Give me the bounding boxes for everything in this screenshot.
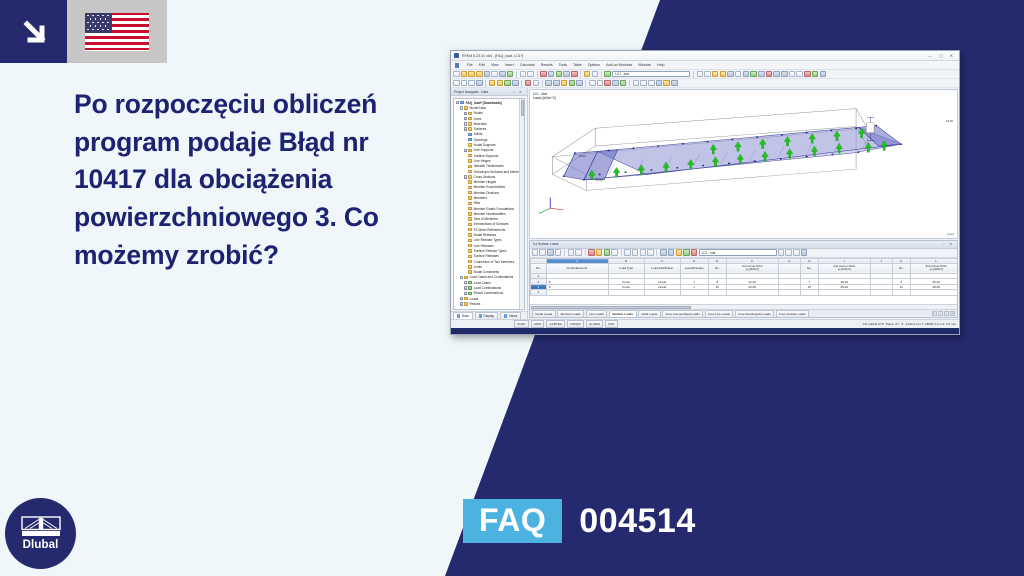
- main-toolbar[interactable]: LC1 - stat: [451, 70, 959, 79]
- tab-first-icon[interactable]: |<: [932, 311, 937, 316]
- navigator-tabs[interactable]: DataDisplayViews: [451, 311, 527, 319]
- folder-icon: [468, 265, 472, 268]
- status-toggle-cartes[interactable]: CARTES: [546, 320, 565, 327]
- zoom-window-icon[interactable]: [743, 71, 750, 78]
- window-controls[interactable]: — ◻ ✕: [928, 53, 956, 58]
- table-cell[interactable]: [726, 290, 778, 295]
- load-tab-free-circular-loads[interactable]: Free Circular Loads: [776, 310, 809, 318]
- tree-spacer-icon: [464, 196, 467, 199]
- layers-icon[interactable]: [663, 80, 670, 87]
- menu-item-file[interactable]: File: [467, 63, 473, 67]
- column-header-cell: On Surfaces No.: [546, 263, 608, 274]
- column-header-cell: Load Direction: [680, 263, 708, 274]
- navigator-close-icon[interactable]: ▫ ✕: [513, 90, 524, 94]
- table-cell[interactable]: [910, 290, 957, 295]
- table-new-icon[interactable]: [532, 249, 539, 256]
- table-color-icon[interactable]: [676, 249, 683, 256]
- table-nav-prev-icon[interactable]: [785, 249, 792, 256]
- folder-icon: [468, 143, 472, 146]
- table-cell[interactable]: [608, 290, 644, 295]
- folder-icon: [468, 175, 472, 178]
- toolbar-separator: [601, 71, 602, 78]
- model-viewport[interactable]: LC1 : stat Loads [kN/m^2]: [529, 89, 958, 239]
- status-coordinate-system: CS: Global XYZ: [863, 322, 884, 326]
- navigator-scrollbar[interactable]: [519, 99, 524, 309]
- tree-spacer-icon: [464, 186, 467, 189]
- menu-item-calculate[interactable]: Calculate: [520, 63, 535, 67]
- folder-icon: [468, 117, 472, 120]
- line-load-icon[interactable]: [561, 80, 568, 87]
- table-next-icon[interactable]: [640, 249, 647, 256]
- tree-spacer-icon: [464, 191, 467, 194]
- expand-icon[interactable]: +: [464, 127, 467, 130]
- folder-icon: [468, 165, 472, 168]
- load-tab-member-loads[interactable]: Member Loads: [557, 310, 584, 318]
- table-undo-icon[interactable]: [611, 249, 618, 256]
- folder-icon: [468, 122, 472, 125]
- column-header-cell: Load Type: [608, 263, 644, 274]
- clipping-icon[interactable]: [648, 80, 655, 87]
- menu-item-results[interactable]: Results: [541, 63, 553, 67]
- measure-icon[interactable]: [789, 71, 796, 78]
- toolbar-separator: [516, 71, 517, 78]
- folder-icon: [468, 159, 472, 162]
- folder-icon: [468, 186, 472, 189]
- work-area: LC1 : stat Loads [kN/m^2]: [528, 88, 959, 319]
- folder-icon: [468, 133, 472, 136]
- tree-spacer-icon: [464, 260, 467, 263]
- table-nav-next-icon[interactable]: [793, 249, 800, 256]
- column-header-cell: No.: [530, 263, 546, 274]
- menu-item-window[interactable]: Window: [638, 63, 651, 67]
- folder-icon: [468, 281, 472, 284]
- navigator-item-label: Load Combinations: [474, 286, 501, 290]
- table-panel-titlebar: 3.4 Surface Loads ▫ ✕: [530, 241, 957, 249]
- table-cell[interactable]: [644, 290, 680, 295]
- tree-spacer-icon: [464, 165, 467, 168]
- load-type-tabs[interactable]: Nodal LoadsMember LoadsLine LoadsSurface…: [530, 309, 957, 317]
- table-close-table-icon[interactable]: [801, 249, 808, 256]
- structural-model-3d[interactable]: [530, 98, 957, 218]
- navigator-item-label: FAQ_load* [Downloads]: [466, 101, 502, 105]
- render-icon[interactable]: [563, 71, 570, 78]
- tree-spacer-icon: [464, 249, 467, 252]
- surface-tool-icon[interactable]: [489, 80, 496, 87]
- table-cell[interactable]: [778, 290, 800, 295]
- tree-spacer-icon: [464, 239, 467, 242]
- toolbar-separator: [693, 71, 694, 78]
- collapse-icon[interactable]: -: [460, 106, 463, 109]
- status-toggle-snap[interactable]: SNAP: [514, 320, 529, 327]
- folder-icon: [464, 106, 468, 109]
- minimize-button[interactable]: —: [928, 53, 932, 58]
- collapse-icon[interactable]: -: [456, 101, 459, 104]
- folder-icon: [464, 297, 468, 300]
- mesh-refine-icon[interactable]: [597, 80, 604, 87]
- navigator-tab-views[interactable]: Views: [500, 312, 521, 319]
- surface-loads-table[interactable]: ABCDEFGHIJKL No.On Surfaces No.Load Type…: [530, 258, 957, 296]
- print-icon[interactable]: [491, 71, 498, 78]
- prev-lc-icon[interactable]: [697, 71, 704, 78]
- loadcase-icon[interactable]: [604, 71, 611, 78]
- status-toggle-grid[interactable]: GRID: [531, 320, 545, 327]
- calculate-icon[interactable]: [548, 71, 555, 78]
- navigator-item-label: Member Eccentricities: [474, 185, 505, 189]
- viewport-unit-label: [mm]: [947, 232, 954, 236]
- delete-icon[interactable]: [804, 71, 811, 78]
- column-header-cell: No.: [892, 263, 910, 274]
- tab-icon: [504, 314, 507, 317]
- viewport-dimension-right: 22.00: [946, 119, 953, 123]
- toolbar-separator: [656, 249, 657, 256]
- toolbar-separator: [564, 249, 565, 256]
- help-icon[interactable]: [820, 71, 827, 78]
- table-filter-icon[interactable]: [547, 249, 554, 256]
- table-copy-icon[interactable]: [568, 249, 575, 256]
- free-load-icon[interactable]: [576, 80, 583, 87]
- menu-item-view[interactable]: View: [491, 63, 499, 67]
- arc-tool-icon[interactable]: [468, 80, 475, 87]
- settings-icon[interactable]: [812, 71, 819, 78]
- tree-spacer-icon: [464, 180, 467, 183]
- section-icon[interactable]: [796, 71, 803, 78]
- table-panel-title: 3.4 Surface Loads: [533, 242, 559, 246]
- tab-last-icon[interactable]: >|: [950, 311, 955, 316]
- navigator-tab-label: Views: [509, 314, 517, 318]
- tab-icon: [457, 314, 460, 317]
- window-title: RFEM 5.23.01 x64 - [FAQ_load, LC1*]: [462, 54, 523, 58]
- navigator-item-label: Nodal Supports: [474, 143, 496, 147]
- expand-icon[interactable]: +: [464, 112, 467, 115]
- navigator-item-label: Model Data: [470, 106, 486, 110]
- tree-spacer-icon: [464, 228, 467, 231]
- menu-item-insert[interactable]: Insert: [505, 63, 514, 67]
- table-cell[interactable]: [870, 290, 892, 295]
- workplane-icon[interactable]: [620, 80, 627, 87]
- show-numbering-icon[interactable]: [720, 71, 727, 78]
- page-title: Po rozpoczęciu obliczeń program podaje B…: [74, 86, 434, 274]
- column-header-cell: [778, 263, 800, 274]
- status-toggle-osnap[interactable]: OSNAP: [567, 320, 584, 327]
- dimension-icon[interactable]: [633, 80, 640, 87]
- node-tool-icon[interactable]: [453, 80, 460, 87]
- table-view-icon[interactable]: [683, 249, 690, 256]
- view-xz-icon[interactable]: [781, 71, 788, 78]
- folder-icon: [468, 191, 472, 194]
- navigator-tab-label: Display: [484, 314, 494, 318]
- navigator-item-label: Intersections of Surfaces: [474, 222, 509, 226]
- tree-spacer-icon: [464, 223, 467, 226]
- table-print-icon[interactable]: [668, 249, 675, 256]
- arrow-down-right-icon: [0, 0, 67, 63]
- table-edit-icon[interactable]: [539, 249, 546, 256]
- navigator-item-label: Variable Thicknesses: [474, 164, 504, 168]
- navigator-item-label: Loads: [470, 297, 479, 301]
- navigator-item-label: Load Cases: [474, 281, 491, 285]
- status-toggle-glines[interactable]: GLINES: [586, 320, 603, 327]
- folder-icon: [468, 112, 472, 115]
- navigator-item-label: Nodal Constraints: [474, 270, 499, 274]
- table-cell[interactable]: [708, 290, 726, 295]
- expand-icon[interactable]: +: [464, 286, 467, 289]
- redo-icon[interactable]: [527, 71, 534, 78]
- expand-icon[interactable]: +: [460, 297, 463, 300]
- tree-spacer-icon: [464, 133, 467, 136]
- tree-spacer-icon: [464, 244, 467, 247]
- table-cell[interactable]: [892, 290, 910, 295]
- expand-icon[interactable]: +: [464, 117, 467, 120]
- fe-mesh-icon[interactable]: [604, 80, 611, 87]
- menu-item-table[interactable]: Table: [573, 63, 582, 67]
- column-header-cell: [870, 263, 892, 274]
- tree-spacer-icon: [464, 170, 467, 173]
- edit-icon[interactable]: [540, 71, 547, 78]
- load-tab-line-loads[interactable]: Line Loads: [586, 310, 608, 318]
- folder-icon: [464, 302, 468, 305]
- folder-icon: [468, 260, 472, 263]
- toolbar-separator: [521, 80, 522, 87]
- results-icon[interactable]: [571, 71, 578, 78]
- expand-icon[interactable]: +: [464, 149, 467, 152]
- tab-icon: [479, 314, 482, 317]
- tree-spacer-icon: [464, 143, 467, 146]
- surface-loads-grid[interactable]: ABCDEFGHIJKL No.On Surfaces No.Load Type…: [530, 258, 957, 305]
- menu-item-addon-modules[interactable]: Add-on Modules: [606, 63, 632, 67]
- table-cell[interactable]: [546, 290, 608, 295]
- navigator-item-label: Sets of Members: [474, 217, 498, 221]
- window-titlebar: RFEM 5.23.01 x64 - [FAQ_load, LC1*] — ◻ …: [451, 51, 959, 61]
- viewport-dimension-left-upper: 22.00: [579, 154, 586, 158]
- table-delete-row-icon[interactable]: [588, 249, 595, 256]
- tree-spacer-icon: [464, 217, 467, 220]
- toolbar-separator: [629, 80, 630, 87]
- table-body[interactable]: 126ForceLinearz822.00745.00445.0038Force…: [530, 274, 957, 296]
- column-header-cell: No.: [708, 263, 726, 274]
- expand-icon[interactable]: +: [464, 281, 467, 284]
- faq-badge: FAQ 004514: [463, 499, 696, 543]
- status-bar: Workplane SNAP GRID CARTES OSNAP GLINES …: [451, 319, 959, 328]
- table-export-icon[interactable]: [660, 249, 667, 256]
- tree-spacer-icon: [464, 233, 467, 236]
- print-preview-icon[interactable]: [671, 80, 678, 87]
- table-insert-row-icon[interactable]: [596, 249, 603, 256]
- status-plane: Plane: XY: [886, 322, 899, 326]
- open-recent-icon[interactable]: [468, 71, 475, 78]
- folder-icon: [468, 212, 472, 215]
- navigator-item-label: Result Combinations: [474, 291, 503, 295]
- navigator-item-label: Cross-Sections: [474, 175, 496, 179]
- folder-icon: [468, 138, 472, 141]
- folder-icon: [468, 207, 472, 210]
- tree-spacer-icon: [464, 154, 467, 157]
- hinge-tool-icon[interactable]: [533, 80, 540, 87]
- visibility-icon[interactable]: [656, 80, 663, 87]
- row-number-cell[interactable]: 4: [530, 290, 546, 295]
- folder-icon: [468, 286, 472, 289]
- us-flag-icon: [85, 13, 149, 51]
- import-icon[interactable]: [476, 71, 483, 78]
- navigator-item-label: Connection of Two Members: [474, 260, 515, 264]
- table-last-icon[interactable]: [647, 249, 654, 256]
- navigator-item-label: Lines: [474, 117, 482, 121]
- toolbar-separator: [585, 80, 586, 87]
- navigator-item-label: Nodal Releases: [474, 233, 497, 237]
- deformation-icon[interactable]: [727, 71, 734, 78]
- navigator-item-label: Line Hinges: [474, 159, 491, 163]
- folder-icon: [468, 127, 472, 130]
- menu-item-tools[interactable]: Tools: [559, 63, 567, 67]
- tab-prev-icon[interactable]: <: [938, 311, 943, 316]
- status-coordinates: X: -1100.4 mm Y: 28093.4 mm Z: 0.0 mm: [901, 322, 956, 326]
- application-body: Project Navigator - Data ▫ ✕ -FAQ_load* …: [451, 88, 959, 319]
- tab-next-icon[interactable]: >: [944, 311, 949, 316]
- folder-icon: [464, 276, 468, 279]
- table-settings-icon[interactable]: [604, 249, 611, 256]
- table-cell[interactable]: [680, 290, 708, 295]
- table-combo-dropdown-icon[interactable]: [778, 249, 785, 256]
- folder-icon: [468, 170, 472, 173]
- expand-icon[interactable]: +: [460, 302, 463, 305]
- table-info-icon[interactable]: [691, 249, 698, 256]
- folder-icon: [468, 180, 472, 183]
- application-footer: [451, 328, 959, 334]
- tables-icon[interactable]: [584, 71, 591, 78]
- printout-report-icon[interactable]: [499, 71, 506, 78]
- navigator-item-label: Load Cases and Combinations: [470, 275, 514, 279]
- navigator-item-label: Results: [470, 302, 481, 306]
- circle-tool-icon[interactable]: [476, 80, 483, 87]
- new-file-icon[interactable]: [453, 71, 460, 78]
- solid-tool-icon[interactable]: [504, 80, 511, 87]
- load-tab-free-concentrated-loads[interactable]: Free Concentrated Loads: [662, 310, 703, 318]
- table-panel-close-icon[interactable]: ▫ ✕: [943, 242, 954, 246]
- close-button[interactable]: ✕: [950, 53, 953, 58]
- next-lc-icon[interactable]: [704, 71, 711, 78]
- grid-snap-icon[interactable]: [612, 80, 619, 87]
- view-iso-icon[interactable]: [766, 71, 773, 78]
- rotate-icon[interactable]: [758, 71, 765, 78]
- language-flag-badge: [67, 0, 167, 63]
- toolbar-separator: [580, 71, 581, 78]
- folder-icon: [468, 217, 472, 220]
- column-header-cell: No.: [800, 263, 818, 274]
- open-file-icon[interactable]: [461, 71, 468, 78]
- table-first-icon[interactable]: [624, 249, 631, 256]
- table-load-case-selector[interactable]: LC1 - stat: [699, 249, 777, 256]
- grid-horizontal-scrollbar[interactable]: [530, 304, 957, 309]
- viewport-dimension-left-lower: 45.00: [596, 178, 603, 182]
- folder-icon: [468, 228, 472, 231]
- logo-wordmark: Dlubal: [23, 539, 59, 551]
- view-xy-icon[interactable]: [773, 71, 780, 78]
- support-tool-icon[interactable]: [525, 80, 532, 87]
- save-icon[interactable]: [484, 71, 491, 78]
- pan-icon[interactable]: [750, 71, 757, 78]
- tree-spacer-icon: [464, 255, 467, 258]
- undo-icon[interactable]: [520, 71, 527, 78]
- tree-spacer-icon: [464, 265, 467, 268]
- navigator-item-label: FE Mesh Refinements: [474, 228, 506, 232]
- navigator-tree[interactable]: -FAQ_load* [Downloads]-Model Data+Nodes+…: [453, 98, 526, 310]
- table-row[interactable]: 4: [530, 290, 957, 295]
- navigator-item-label: Orthotropic Surfaces and Members: [474, 170, 524, 174]
- menu-item-options[interactable]: Options: [588, 63, 600, 67]
- navigator-item-label: Solids: [474, 132, 483, 136]
- navigator-title-label: Project Navigator - Data: [454, 90, 488, 94]
- column-header-row: No.On Surfaces No.Load TypeLoad Distribu…: [530, 263, 957, 274]
- expand-icon[interactable]: +: [464, 122, 467, 125]
- scrollbar-thumb[interactable]: [531, 306, 691, 309]
- load-tab-free-line-loads[interactable]: Free Line Loads: [705, 310, 734, 318]
- navigator-tab-data[interactable]: Data: [453, 312, 473, 319]
- navigator-tree-item[interactable]: +Results: [455, 301, 524, 306]
- screenshot-icon[interactable]: [507, 71, 514, 78]
- collapse-icon[interactable]: -: [460, 276, 463, 279]
- navigator-item-label: Openings: [474, 138, 488, 142]
- toolbar-separator: [537, 71, 538, 78]
- folder-icon: [468, 202, 472, 205]
- table-sort-icon[interactable]: [555, 249, 562, 256]
- opening-tool-icon[interactable]: [497, 80, 504, 87]
- member-load-icon[interactable]: [553, 80, 560, 87]
- member-tool-icon[interactable]: [512, 80, 519, 87]
- nodal-load-icon[interactable]: [545, 80, 552, 87]
- load-tab-free-rectangular-loads[interactable]: Free Rectangular Loads: [735, 310, 774, 318]
- menu-bar[interactable]: File Edit View Insert Calculate Results …: [451, 61, 959, 70]
- load-case-selector[interactable]: LC1 - stat: [612, 71, 690, 78]
- toolbar-separator: [542, 80, 543, 87]
- panel-icon[interactable]: [592, 71, 599, 78]
- secondary-toolbar[interactable]: [451, 79, 959, 88]
- column-header-cell: Load Distribution: [644, 263, 680, 274]
- scrollbar-thumb[interactable]: [521, 100, 524, 116]
- menu-item-help[interactable]: Help: [657, 63, 664, 67]
- maximize-button[interactable]: ◻: [939, 53, 942, 58]
- faq-tag-label: FAQ: [463, 499, 562, 543]
- zoom-all-icon[interactable]: [735, 71, 742, 78]
- navigator-item-label: Surface Releases: [474, 254, 499, 258]
- folder-icon: [460, 101, 464, 104]
- load-tab-solid-loads[interactable]: Solid Loads: [638, 310, 661, 318]
- menu-item-edit[interactable]: Edit: [479, 63, 485, 67]
- table-paste-icon[interactable]: [575, 249, 582, 256]
- navigator-item-label: Ribs: [474, 201, 480, 205]
- run-icon[interactable]: [556, 71, 563, 78]
- table-cell[interactable]: [818, 290, 870, 295]
- mesh-icon[interactable]: [589, 80, 596, 87]
- tab-nav-buttons[interactable]: |< < > >|: [932, 311, 955, 316]
- folder-icon: [468, 149, 472, 152]
- status-toggle-dxf[interactable]: DXF: [605, 320, 617, 327]
- table-toolbar[interactable]: LC1 - stat: [530, 249, 957, 258]
- table-prev-icon[interactable]: [632, 249, 639, 256]
- navigator-tab-display[interactable]: Display: [475, 312, 498, 319]
- load-tab-surface-loads[interactable]: Surface Loads: [609, 310, 637, 318]
- load-tab-nodal-loads[interactable]: Nodal Loads: [532, 310, 556, 318]
- text-icon[interactable]: [640, 80, 647, 87]
- project-navigator: Project Navigator - Data ▫ ✕ -FAQ_load* …: [451, 88, 528, 319]
- folder-icon: [468, 233, 472, 236]
- expand-icon[interactable]: +: [464, 175, 467, 178]
- table-cell[interactable]: [800, 290, 818, 295]
- navigator-item-label: Surface Release Types: [474, 249, 507, 253]
- show-loads-icon[interactable]: [712, 71, 719, 78]
- line-tool-icon[interactable]: [461, 80, 468, 87]
- folder-icon: [468, 249, 472, 252]
- surface-load-icon[interactable]: [569, 80, 576, 87]
- navigator-item-label: Joints: [474, 265, 482, 269]
- expand-icon[interactable]: +: [464, 292, 467, 295]
